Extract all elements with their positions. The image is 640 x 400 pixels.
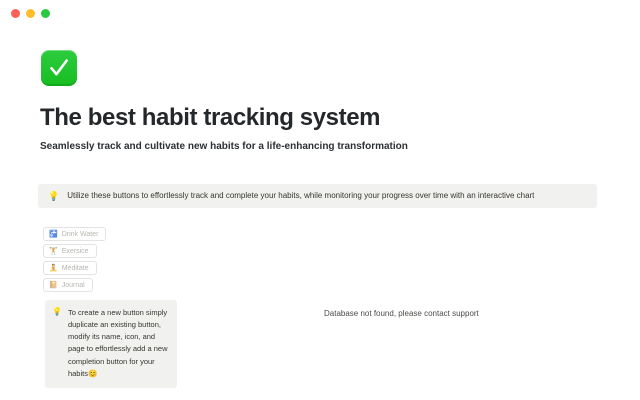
habit-button-journal[interactable]: 📔 Journal — [43, 278, 93, 292]
habit-button-label: Drink Water — [62, 231, 99, 238]
meditation-icon: 🧘 — [49, 265, 58, 272]
check-mark-icon — [41, 50, 77, 86]
page-subtitle: Seamlessly track and cultivate new habit… — [40, 141, 408, 152]
habit-button-label: Meditate — [62, 265, 89, 272]
minimize-window-button[interactable] — [26, 9, 35, 18]
weightlifter-icon: 🏋 — [49, 248, 58, 255]
page-content: The best habit tracking system Seamlessl… — [0, 26, 640, 400]
page-title: The best habit tracking system — [40, 104, 380, 132]
water-drop-icon: 🚰 — [49, 231, 58, 238]
info-callout: 💡 Utilize these buttons to effortlessly … — [38, 184, 597, 208]
habit-button-meditate[interactable]: 🧘 Meditate — [43, 261, 97, 275]
habit-button-drink-water[interactable]: 🚰 Drink Water — [43, 227, 106, 241]
traffic-light-controls — [11, 9, 50, 18]
close-window-button[interactable] — [11, 9, 20, 18]
tip-callout-text: To create a new button simply duplicate … — [68, 307, 169, 380]
app-window: The best habit tracking system Seamlessl… — [0, 0, 640, 400]
tip-callout: 💡 To create a new button simply duplicat… — [45, 300, 177, 388]
habit-button-exercise[interactable]: 🏋 Exersice — [43, 244, 97, 258]
info-callout-text: Utilize these buttons to effortlessly tr… — [67, 191, 534, 202]
habit-button-list: 🚰 Drink Water 🏋 Exersice 🧘 Meditate 📔 Jo… — [43, 227, 106, 292]
lightbulb-icon: 💡 — [48, 192, 59, 201]
zoom-window-button[interactable] — [41, 9, 50, 18]
habit-button-label: Journal — [62, 282, 85, 289]
notebook-icon: 📔 — [49, 282, 58, 289]
database-error-message: Database not found, please contact suppo… — [324, 309, 479, 318]
lightbulb-icon: 💡 — [52, 307, 62, 317]
habit-button-label: Exersice — [62, 248, 89, 255]
title-bar — [0, 0, 640, 26]
